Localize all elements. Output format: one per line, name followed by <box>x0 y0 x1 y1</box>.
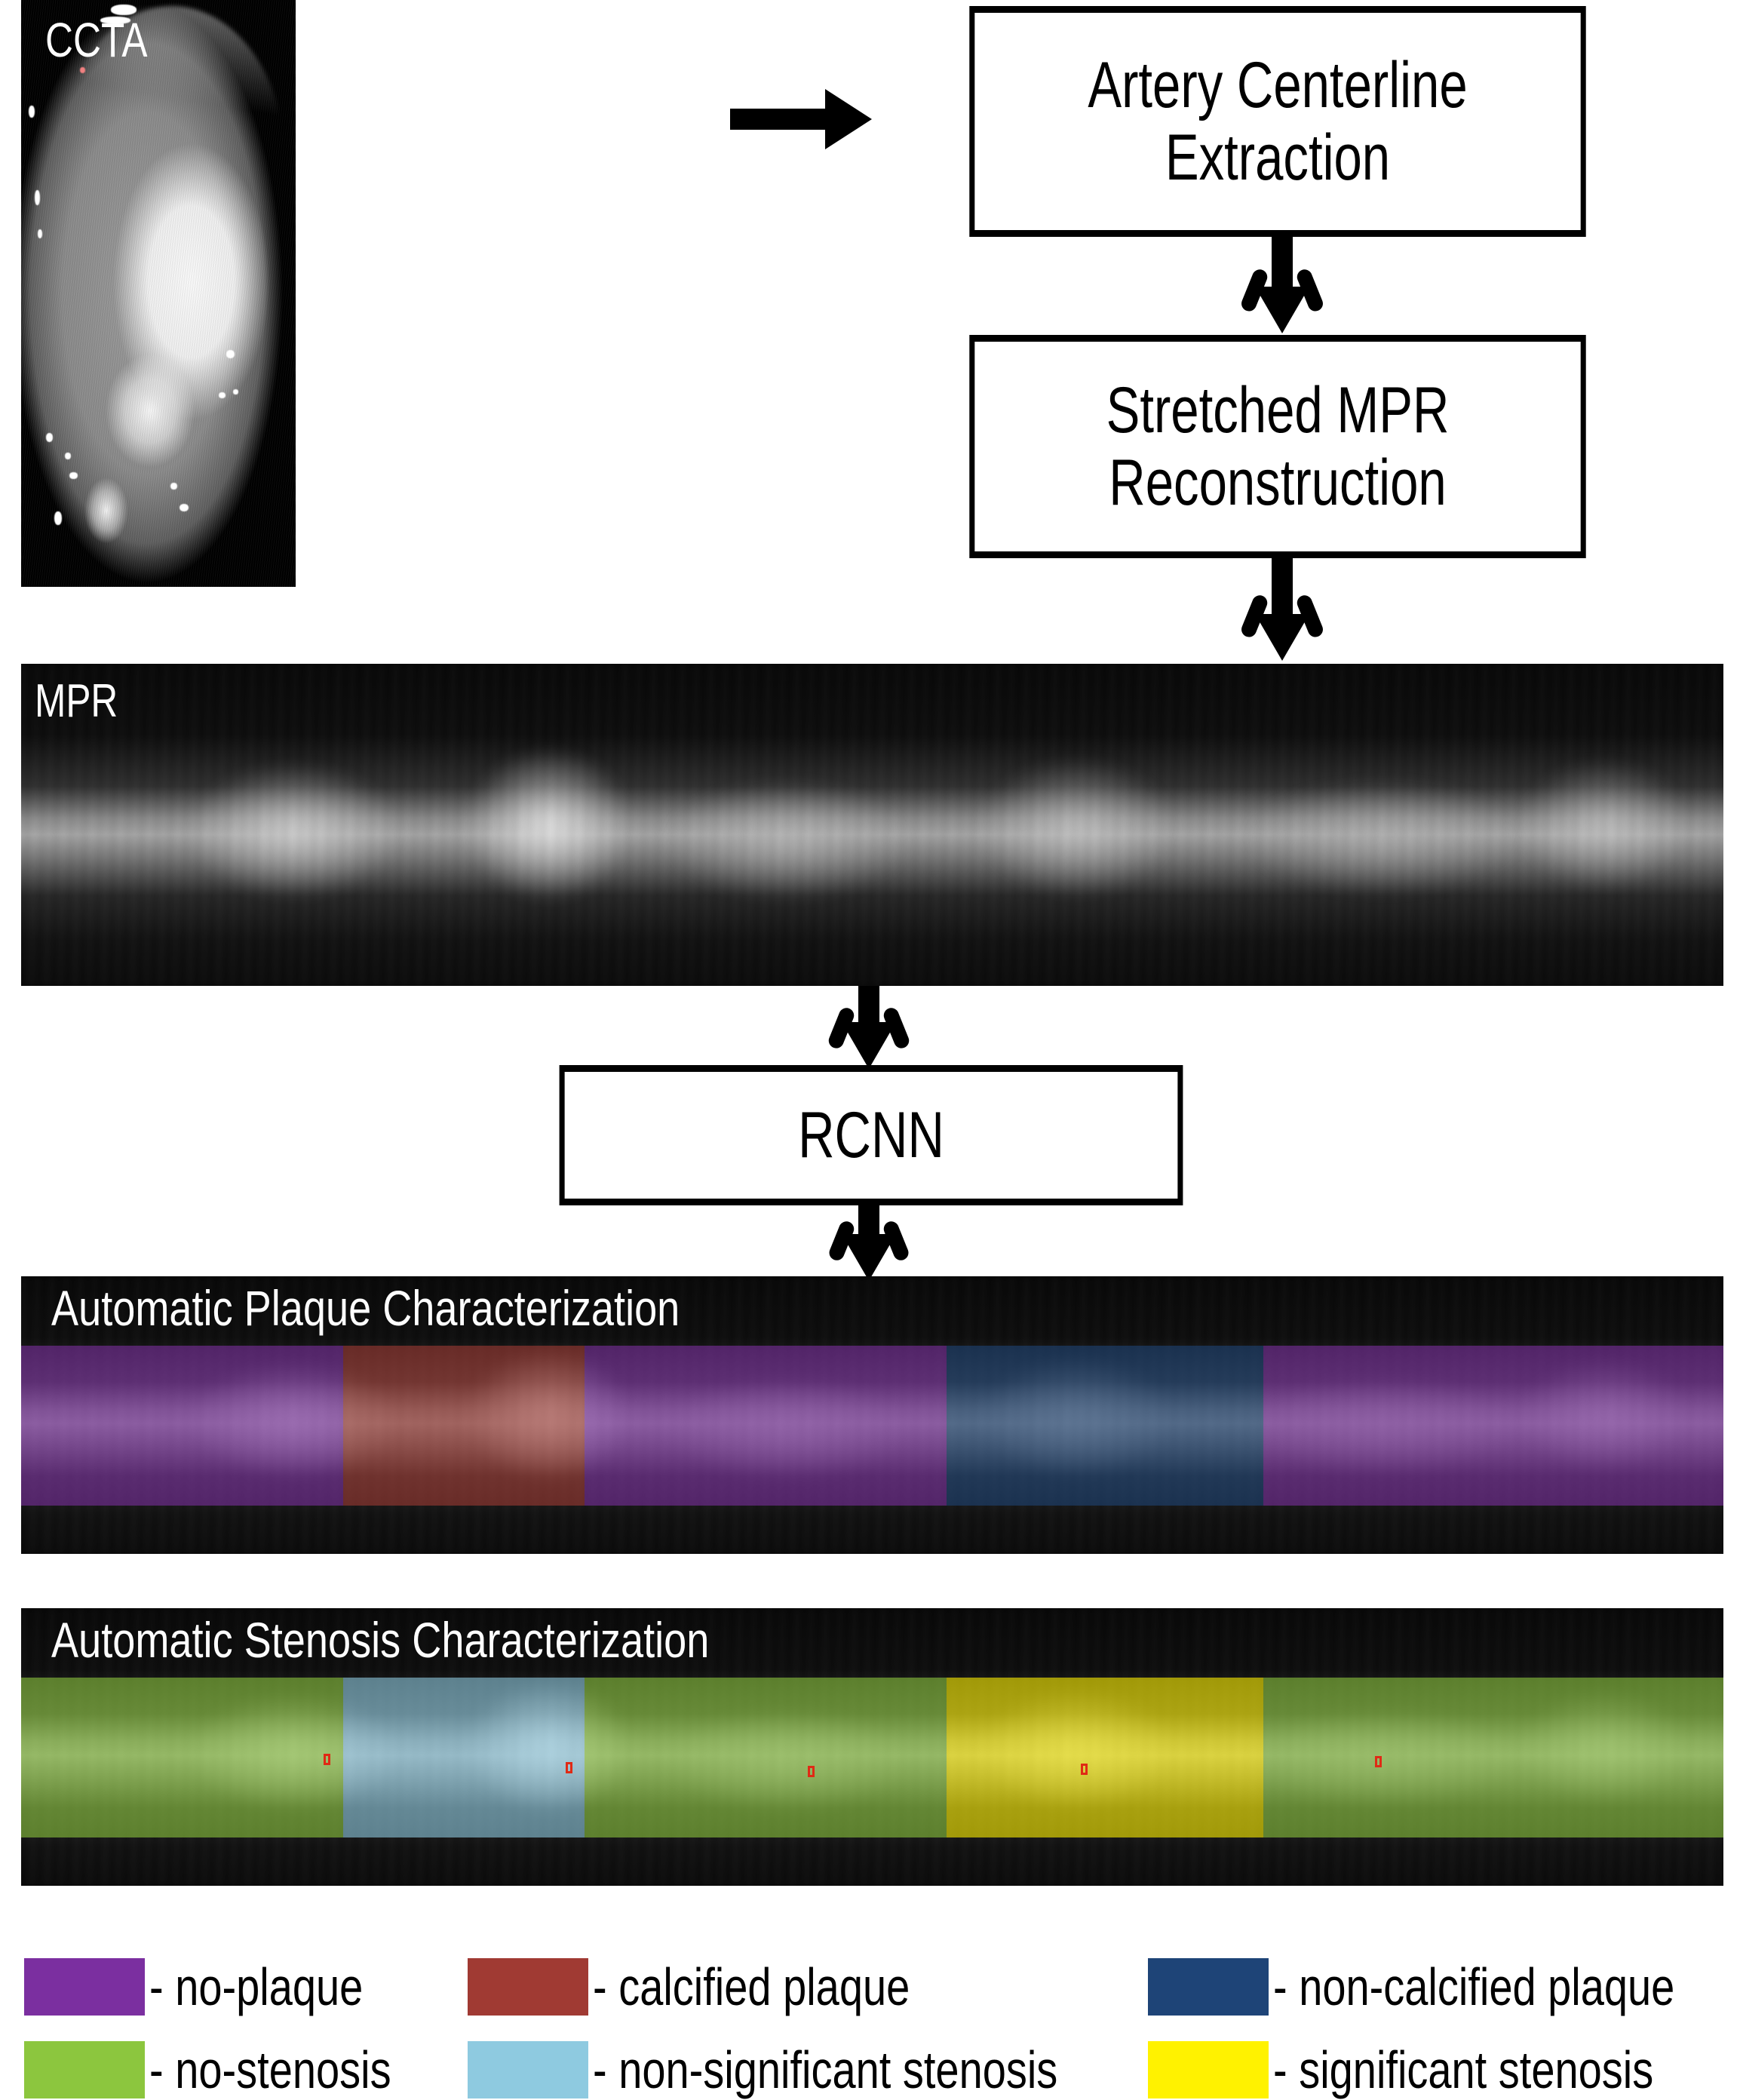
stenosis-segment-non-significant-stenosis[interactable] <box>343 1678 585 1837</box>
segment-tint <box>21 1678 343 1837</box>
stenosis-segment-no-stenosis[interactable] <box>1263 1678 1723 1837</box>
mpr-band: MPR <box>21 664 1723 986</box>
ct-speck <box>38 229 42 238</box>
segment-tint <box>947 1678 1263 1837</box>
arrow-head <box>842 1234 896 1281</box>
lumen-marker <box>566 1762 572 1773</box>
ct-speck <box>46 433 53 442</box>
ct-speck <box>65 453 71 459</box>
legend-item-no-plaque[interactable]: - no-plaque <box>24 1957 416 2017</box>
segment-tint <box>21 1346 343 1506</box>
arrow-head <box>825 89 872 149</box>
box-stretched-mpr-reconstruction-label: Stretched MPR Reconstruction <box>1106 374 1450 520</box>
stenosis-characterization-band: Automatic Stenosis Characterization <box>21 1608 1723 1886</box>
segment-tint <box>343 1678 585 1837</box>
box-artery-centerline-extraction-label: Artery Centerline Extraction <box>1088 49 1467 195</box>
segment-tint <box>1263 1346 1723 1506</box>
legend-item-calcified-plaque[interactable]: - calcified plaque <box>468 1957 989 2017</box>
segment-tint <box>585 1346 947 1506</box>
arrow-mpr-to-rcnn <box>839 986 899 1070</box>
stenosis-segment-overlays <box>21 1678 1723 1837</box>
plaque-segment-overlays <box>21 1346 1723 1506</box>
box-stretched-mpr-reconstruction[interactable]: Stretched MPR Reconstruction <box>969 335 1585 558</box>
stenosis-band-label: Automatic Stenosis Characterization <box>51 1611 709 1669</box>
legend-label-no-stenosis: - no-stenosis <box>149 2040 391 2100</box>
segment-tint <box>585 1678 947 1837</box>
legend-swatch-non-calcified-plaque <box>1148 1958 1269 2016</box>
plaque-segment-calcified-plaque[interactable] <box>343 1346 585 1506</box>
box-artery-centerline-extraction[interactable]: Artery Centerline Extraction <box>969 6 1585 237</box>
arrow-head <box>1255 287 1309 333</box>
ct-speck <box>233 389 238 395</box>
legend-label-calcified-plaque: - calcified plaque <box>593 1957 910 2017</box>
legend-label-no-plaque: - no-plaque <box>149 1957 363 2017</box>
mpr-label: MPR <box>35 674 118 728</box>
stenosis-segment-significant-stenosis[interactable] <box>947 1678 1263 1837</box>
legend-label-non-significant-stenosis: - non-significant stenosis <box>593 2040 1057 2100</box>
arrow-rcnn-to-plaque <box>839 1204 899 1279</box>
ct-speck <box>180 504 189 511</box>
stenosis-segment-no-stenosis[interactable] <box>585 1678 947 1837</box>
mpr-noise <box>21 664 1723 986</box>
legend: - no-plaque - calcified plaque - non-cal… <box>0 1940 1740 2089</box>
ct-speck <box>69 472 78 479</box>
ct-speck <box>226 350 235 358</box>
arrow-shaft <box>730 109 830 130</box>
segment-tint <box>343 1346 585 1506</box>
ct-marker-point <box>80 67 85 73</box>
lumen-marker <box>808 1766 815 1777</box>
ct-speck <box>54 511 62 525</box>
legend-swatch-no-plaque <box>24 1958 145 2016</box>
segment-tint <box>947 1346 1263 1506</box>
legend-swatch-non-significant-stenosis <box>468 2041 588 2098</box>
lumen-marker <box>1081 1764 1088 1775</box>
arrow-head <box>1255 614 1309 661</box>
legend-item-no-stenosis[interactable]: - no-stenosis <box>24 2040 452 2100</box>
plaque-segment-no-plaque[interactable] <box>1263 1346 1723 1506</box>
plaque-segment-no-plaque[interactable] <box>21 1346 343 1506</box>
legend-label-significant-stenosis: - significant stenosis <box>1273 2040 1653 2100</box>
segment-tint <box>1263 1678 1723 1837</box>
arrow-centerline-to-mpr-recon <box>1252 237 1312 336</box>
legend-swatch-no-stenosis <box>24 2041 145 2098</box>
box-rcnn-label: RCNN <box>798 1099 944 1171</box>
legend-label-non-calcified-plaque: - non-calcified plaque <box>1273 1957 1674 2017</box>
ct-speck <box>29 106 35 118</box>
arrow-ccta-to-centerline <box>730 89 881 149</box>
ct-speck <box>170 483 177 490</box>
lumen-marker <box>1375 1756 1382 1767</box>
ct-speck <box>35 190 40 205</box>
legend-swatch-significant-stenosis <box>1148 2041 1269 2098</box>
stenosis-segment-no-stenosis[interactable] <box>21 1678 343 1837</box>
legend-item-significant-stenosis[interactable]: - significant stenosis <box>1148 2040 1740 2100</box>
plaque-segment-non-calcified-plaque[interactable] <box>947 1346 1263 1506</box>
legend-item-non-significant-stenosis[interactable]: - non-significant stenosis <box>468 2040 1174 2100</box>
plaque-characterization-band: Automatic Plaque Characterization <box>21 1276 1723 1554</box>
ct-streak-artifact <box>21 0 296 587</box>
plaque-segment-no-plaque[interactable] <box>585 1346 947 1506</box>
arrow-mpr-recon-to-mpr <box>1252 558 1312 665</box>
lumen-marker <box>324 1754 330 1765</box>
ct-speck <box>219 392 226 398</box>
arrow-shaft <box>1272 237 1293 293</box>
arrow-head <box>842 1022 896 1069</box>
ccta-image-panel: CCTA <box>21 0 296 587</box>
legend-swatch-calcified-plaque <box>468 1958 588 2016</box>
box-rcnn[interactable]: RCNN <box>560 1065 1183 1205</box>
ccta-label: CCTA <box>45 12 148 68</box>
legend-item-non-calcified-plaque[interactable]: - non-calcified plaque <box>1148 1957 1740 2017</box>
plaque-band-label: Automatic Plaque Characterization <box>51 1279 680 1337</box>
